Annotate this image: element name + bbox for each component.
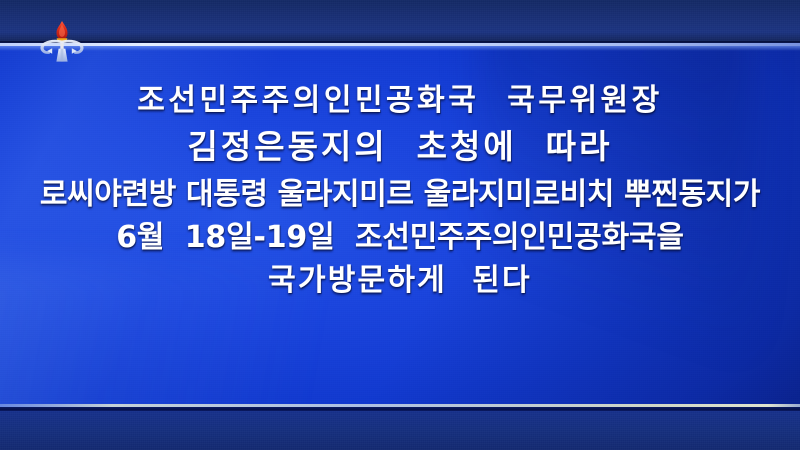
bottom-band-texture [0,411,800,450]
announcement-text-block: 조선민주주의인민공화국 국무위원장 김정은동지의 초청에 따라 로씨야련방 대통… [0,86,800,296]
top-divider-glow [0,46,800,51]
announcement-line-3: 로씨야련방 대통령 울라지미르 울라지미로비치 뿌찐동지가 [0,180,800,210]
announcement-line-4: 6월 18일-19일 조선민주주의인민공화국을 [0,223,800,253]
top-band [0,0,800,41]
announcement-line-5: 국가방문하게 된다 [0,266,800,296]
announcement-line-1: 조선민주주의인민공화국 국무위원장 [0,86,800,116]
broadcast-screen: 조선민주주의인민공화국 국무위원장 김정은동지의 초청에 따라 로씨야련방 대통… [0,0,800,450]
kctv-torch-logo-icon [36,19,88,65]
announcement-line-2: 김정은동지의 초청에 따라 [0,130,800,163]
bottom-band [0,411,800,450]
top-band-texture [0,0,800,41]
